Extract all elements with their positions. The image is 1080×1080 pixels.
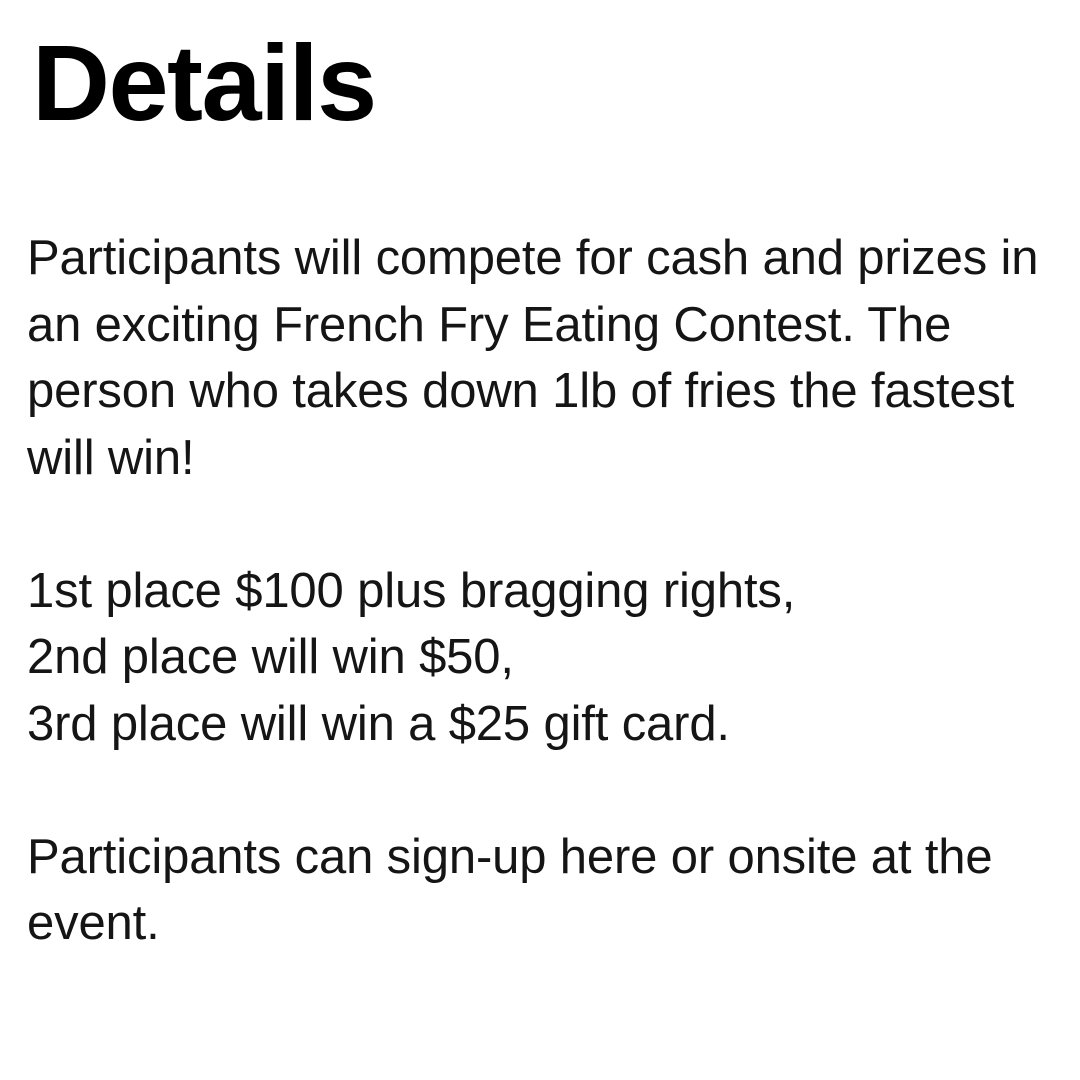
prize-first-place: 1st place $100 plus bragging rights, <box>27 558 1057 625</box>
prize-second-place: 2nd place will win $50, <box>27 624 1057 691</box>
details-page: Details Participants will compete for ca… <box>0 0 1080 1080</box>
signup-paragraph: Participants can sign-up here or onsite … <box>27 824 1027 957</box>
prize-third-place: 3rd place will win a $25 gift card. <box>27 691 1057 758</box>
page-title: Details <box>32 29 376 137</box>
prizes-paragraph: 1st place $100 plus bragging rights, 2nd… <box>27 558 1057 758</box>
intro-paragraph: Participants will compete for cash and p… <box>27 225 1049 491</box>
details-body: Participants will compete for cash and p… <box>27 225 1057 957</box>
